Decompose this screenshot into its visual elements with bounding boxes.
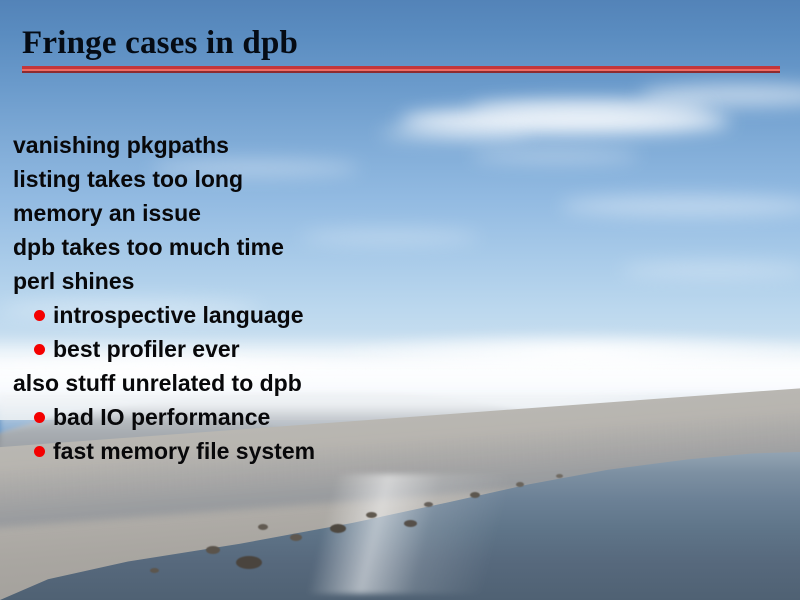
slide-body-list: vanishing pkgpathslisting takes too long… — [0, 128, 800, 468]
list-item-label: perl shines — [13, 268, 134, 294]
foam-waterline — [0, 474, 800, 594]
list-item: vanishing pkgpaths — [0, 128, 800, 162]
list-item-label: memory an issue — [13, 200, 201, 226]
list-item: perl shines — [0, 264, 800, 298]
list-item-label: introspective language — [53, 302, 304, 328]
list-item-label: dpb takes too much time — [13, 234, 284, 260]
list-item-label: best profiler ever — [53, 336, 240, 362]
bullet-dot-icon — [34, 344, 45, 355]
bullet-dot-icon — [34, 310, 45, 321]
list-item: listing takes too long — [0, 162, 800, 196]
pebble — [470, 492, 480, 498]
bullet-list-item: bad IO performance — [0, 400, 800, 434]
pebble — [424, 502, 433, 507]
list-item: also stuff unrelated to dpb — [0, 366, 800, 400]
list-item-label: listing takes too long — [13, 166, 243, 192]
bullet-dot-icon — [34, 446, 45, 457]
list-item-label: fast memory file system — [53, 438, 315, 464]
list-item: dpb takes too much time — [0, 230, 800, 264]
pebble — [206, 546, 220, 554]
rule-shadow-stripe — [22, 71, 780, 73]
pebble — [516, 482, 524, 487]
slide-title: Fringe cases in dpb — [22, 24, 298, 62]
presentation-slide: Fringe cases in dpb vanishing pkgpathsli… — [0, 0, 800, 600]
list-item-label: vanishing pkgpaths — [13, 132, 229, 158]
bullet-dot-icon — [34, 412, 45, 423]
cloud-wisp — [470, 100, 710, 118]
pebble — [290, 534, 302, 541]
pebble — [258, 524, 268, 530]
pebble — [366, 512, 377, 518]
pebble — [150, 568, 159, 573]
bullet-list-item: introspective language — [0, 298, 800, 332]
pebble — [236, 556, 262, 569]
title-underline-rule — [22, 66, 780, 73]
pebble — [404, 520, 417, 527]
list-item: memory an issue — [0, 196, 800, 230]
list-item-label: bad IO performance — [53, 404, 270, 430]
bullet-list-item: fast memory file system — [0, 434, 800, 468]
pebble — [556, 474, 563, 478]
pebble — [330, 524, 346, 533]
list-item-label: also stuff unrelated to dpb — [13, 370, 302, 396]
bullet-list-item: best profiler ever — [0, 332, 800, 366]
